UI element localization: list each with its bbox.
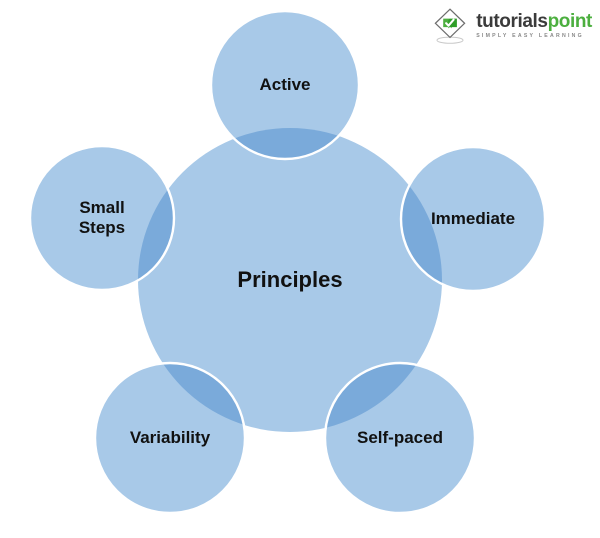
node-label-immediate: Immediate <box>401 189 545 249</box>
radial-venn-diagram: Principles ActiveImmediateSelf-pacedVari… <box>0 0 600 538</box>
logo-name: tutorialspoint <box>476 12 592 31</box>
logo-name-part2: point <box>548 11 592 32</box>
tutorialspoint-wordmark: tutorialspoint SIMPLY EASY LEARNING <box>476 12 592 39</box>
node-label-small-steps: Small Steps <box>30 188 174 248</box>
tutorialspoint-logo-icon <box>430 6 470 46</box>
node-label-variability: Variability <box>95 408 245 468</box>
node-label-self-paced: Self-paced <box>325 408 475 468</box>
node-label-active: Active <box>211 55 359 115</box>
center-circle-label: Principles <box>138 260 442 300</box>
diagram-labels: Principles ActiveImmediateSelf-pacedVari… <box>0 0 600 538</box>
logo-name-part1: tutorials <box>476 11 547 32</box>
logo-tagline: SIMPLY EASY LEARNING <box>476 34 592 39</box>
tutorialspoint-logo: tutorialspoint SIMPLY EASY LEARNING <box>430 6 592 46</box>
